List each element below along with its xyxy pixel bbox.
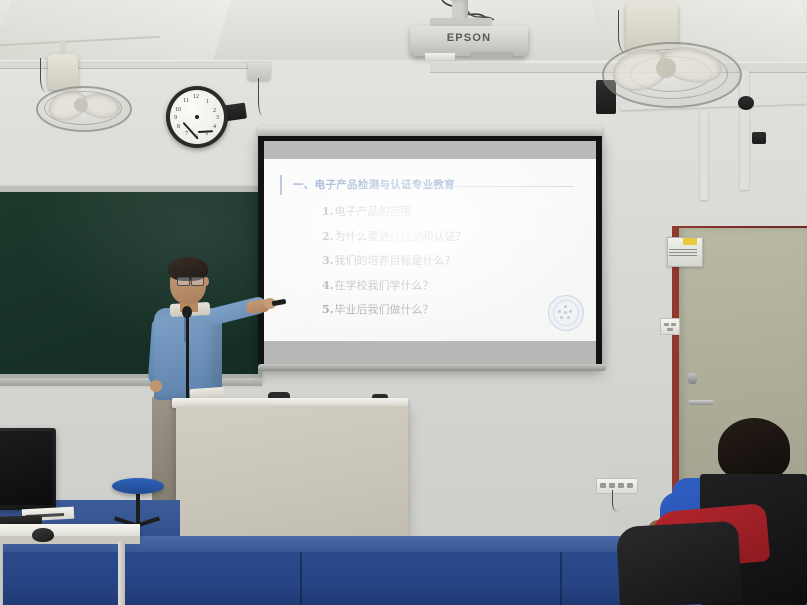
- microphone-head-icon: [182, 306, 192, 318]
- monitor-screen: [0, 431, 53, 505]
- panel-markings: [669, 249, 697, 258]
- wall-pipe-vertical: [740, 70, 749, 190]
- slide-item-text: 电子产品的范围: [334, 203, 411, 219]
- slide-title-underline: [409, 186, 574, 187]
- projected-slide: 一、电子产品检测与认证专业教育 1. 电子产品的范围 2. 为什么要进行检测和认…: [264, 159, 596, 341]
- door-lock-icon[interactable]: [688, 373, 697, 384]
- screen-blank-bottom: [264, 340, 596, 364]
- hanging-wire: [258, 78, 269, 116]
- slide-list-item: 1. 电子产品的范围: [322, 203, 572, 219]
- chalkboard-tray: [0, 378, 262, 386]
- socket: [600, 483, 606, 488]
- fan-hub: [656, 58, 676, 78]
- clock-numeral: 9: [174, 115, 177, 121]
- slide-item-text: 毕业后我们做什么？: [334, 301, 433, 317]
- clock-numeral: 1: [206, 99, 209, 105]
- eyeglasses-right-lens-icon: [191, 277, 204, 286]
- clock-numeral: 7: [185, 131, 188, 137]
- fan-wire: [40, 58, 55, 92]
- clock-numeral: 11: [183, 98, 189, 104]
- institution-seal-icon: [548, 295, 584, 331]
- clock-numeral: 4: [213, 124, 216, 130]
- projector-lens: [425, 53, 455, 62]
- socket: [618, 483, 624, 488]
- slide-item-text: 我们的培养目标是什么？: [334, 252, 455, 268]
- projector-vent: [470, 52, 514, 59]
- slide-list-item: 3. 我们的培养目标是什么？: [322, 252, 572, 268]
- wall-clock: 12 1 2 3 4 5 6 7 8 9 10 11: [166, 86, 228, 148]
- slide-title-accent-bar: [280, 175, 282, 195]
- desk-leg: [118, 542, 125, 605]
- socket: [627, 483, 633, 488]
- desk-leg: [0, 542, 3, 605]
- microphone-stand: [186, 312, 189, 404]
- slide-item-number: 1.: [322, 205, 333, 218]
- slide-list-item: 5. 毕业后我们做什么？: [322, 301, 572, 317]
- slide-item-text: 在学校我们学什么？: [334, 277, 433, 293]
- wall-sensor: [752, 132, 766, 144]
- chalkboard-frame: [0, 186, 262, 382]
- outlet-slot: [671, 323, 676, 326]
- screen-blank-top: [264, 141, 596, 161]
- presenter-left-hand: [150, 380, 162, 392]
- panel-warning-label: [683, 238, 697, 245]
- outlet-slot: [664, 323, 669, 326]
- student-head: [718, 418, 790, 480]
- fan-wire: [618, 10, 639, 54]
- outlet-slot: [667, 328, 673, 331]
- socket: [609, 483, 615, 488]
- slide-item-number: 4.: [322, 279, 333, 292]
- computer-mouse: [32, 528, 54, 542]
- seal-dot-center: [564, 311, 567, 314]
- wall-outlet: [660, 318, 680, 335]
- ceiling-camera: [738, 96, 754, 110]
- backpack: [616, 521, 742, 605]
- blue-stool: [112, 478, 164, 494]
- projection-screen-weight-bar: [258, 364, 606, 371]
- door-handle[interactable]: [688, 400, 714, 405]
- eyeglasses-bridge: [188, 280, 192, 281]
- eyeglasses-left-lens-icon: [177, 277, 190, 286]
- clock-numeral: 8: [177, 124, 180, 130]
- clock-numeral: 10: [175, 107, 181, 113]
- projector-brand-label: EPSON: [410, 32, 528, 44]
- power-cable: [612, 490, 627, 512]
- slide-bullet-list: 1. 电子产品的范围 2. 为什么要进行检测和认证？ 3. 我们的培养目标是什么…: [322, 203, 572, 326]
- slide-item-text: 为什么要进行检测和认证？: [334, 228, 466, 244]
- platform-seam: [560, 552, 562, 605]
- fan-hub: [74, 98, 88, 112]
- clock-center-pin: [195, 115, 199, 119]
- platform-seam: [300, 552, 302, 605]
- seal-dot: [564, 305, 567, 308]
- classroom-scene: EPSON 12 1 2 3 4 5 6 7 8 9 10 11: [0, 0, 807, 605]
- clock-numeral: 2: [213, 108, 216, 114]
- slide-item-number: 3.: [322, 254, 333, 267]
- slide-item-number: 5.: [322, 303, 333, 316]
- slide-title: 一、电子产品检测与认证专业教育: [293, 177, 455, 192]
- wall-pipe-vertical-2: [700, 110, 708, 200]
- clock-numeral: 3: [216, 115, 219, 121]
- clock-numeral: 12: [193, 94, 199, 100]
- slide-list-item: 2. 为什么要进行检测和认证？: [322, 228, 572, 244]
- slide-list-item: 4. 在学校我们学什么？: [322, 277, 572, 293]
- slide-item-number: 2.: [322, 230, 333, 243]
